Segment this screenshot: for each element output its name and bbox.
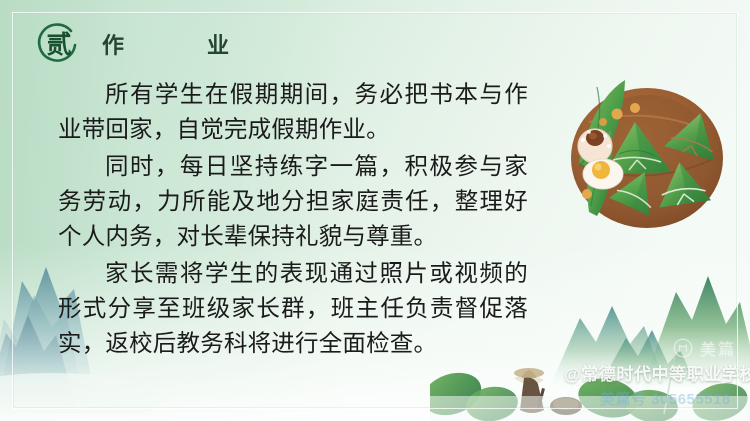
section-title: 作 业 — [98, 28, 253, 60]
body-paragraph: 家长需将学生的表现通过照片或视频的形式分享至班级家长群，班主任负责督促落实，返校… — [58, 257, 528, 362]
slide-body: 所有学生在假期期间，务必把书本与作业带回家，自觉完成假期作业。 同时，每日坚持练… — [58, 78, 528, 364]
section-numeral-text: 贰 — [46, 33, 71, 58]
slide-canvas: 贰 作 业 所有学生在假期期间，务必把书本与作业带回家，自觉完成假期作业。 同时… — [0, 0, 750, 421]
section-header: 贰 作 业 — [34, 20, 253, 68]
body-paragraph: 所有学生在假期期间，务必把书本与作业带回家，自觉完成假期作业。 — [58, 78, 528, 148]
section-numeral-badge: 贰 — [34, 20, 82, 68]
body-paragraph: 同时，每日坚持练字一篇，积极参与家务劳动，力所能及地分担家庭责任，整理好个人内务… — [58, 150, 528, 255]
